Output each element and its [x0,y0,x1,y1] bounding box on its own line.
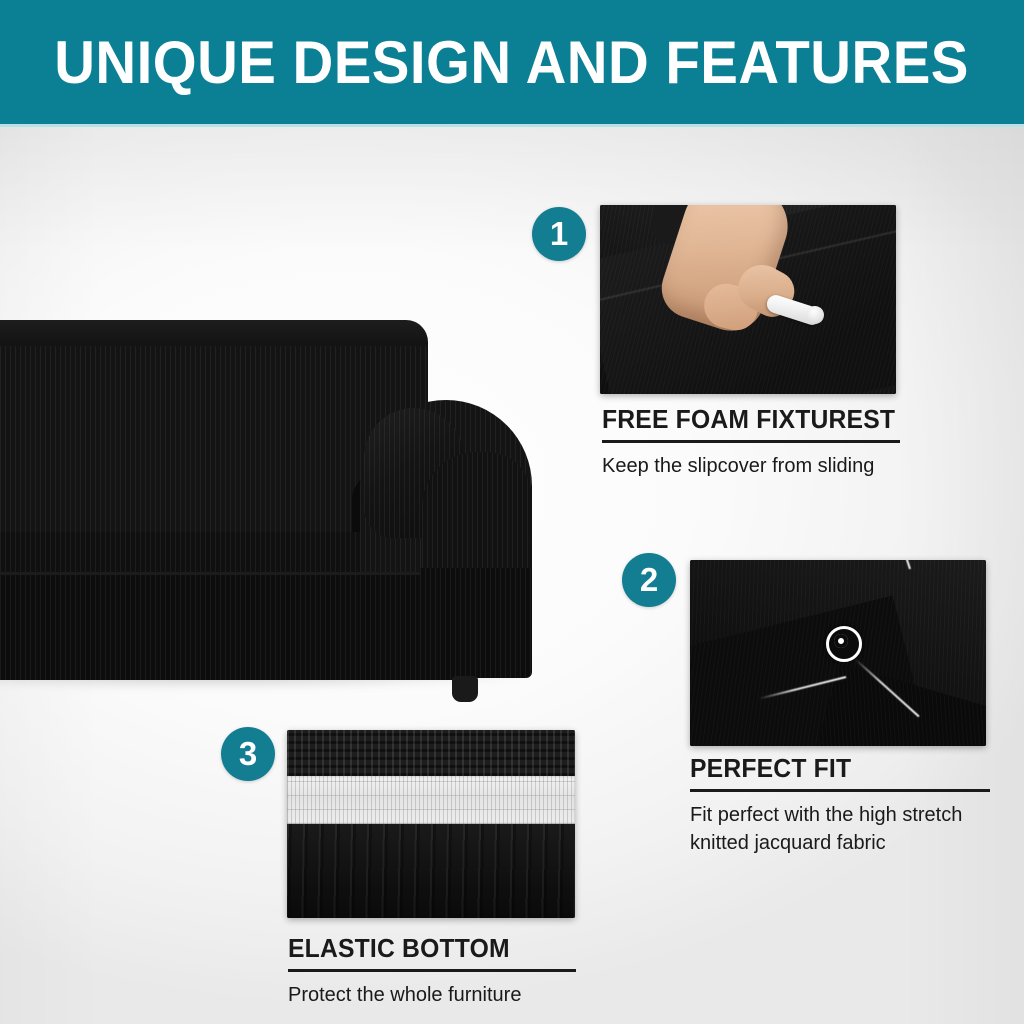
sofa-skirt [0,572,468,680]
feature-title-1: FREE FOAM FIXTUREST [602,404,925,435]
sofa-skirt-rib-texture [0,572,468,680]
sofa-foot [452,676,478,702]
feature-caption-2: PERFECT FIT Fit perfect with the high st… [690,753,1010,858]
panel-3-gathered-hem-bottom [287,824,575,918]
feature-body-1: Keep the slipcover from sliding [602,452,942,480]
feature-title-3-underline [288,969,576,972]
panel-3-white-elastic-band [287,776,575,824]
feature-body-3-line-1: Protect the whole furniture [288,981,588,1009]
feature-title-2: PERFECT FIT [690,753,994,784]
infographic-page: UNIQUE DESIGN AND FEATURES [0,0,1024,1024]
sofa-back-top-edge [0,320,428,346]
panel-3-ribbed-fabric-top [287,730,575,776]
header-banner: UNIQUE DESIGN AND FEATURES [0,0,1024,124]
feature-caption-3: ELASTIC BOTTOM Protect the whole furnitu… [288,933,588,1009]
feature-title-2-underline [690,789,990,792]
feature-body-2: Fit perfect with the high stretch knitte… [690,801,1010,858]
feature-photo-1-free-foam-fixturest [600,205,896,394]
feature-photo-3-elastic-bottom [287,730,575,918]
feature-body-2-line-1: Fit perfect with the high stretch [690,801,1010,829]
panel-2-seam-junction-ring-center [834,634,848,648]
feature-body-1-line-1: Keep the slipcover from sliding [602,452,942,480]
feature-badge-3-number: 3 [239,737,257,770]
feature-title-3: ELASTIC BOTTOM [288,933,573,964]
feature-badge-1-number: 1 [550,217,568,250]
feature-title-1-underline [602,440,900,443]
feature-body-3: Protect the whole furniture [288,981,588,1009]
feature-badge-3: 3 [221,727,275,781]
sofa-product-image [0,300,560,720]
feature-badge-2: 2 [622,553,676,607]
feature-body-2-line-2: knitted jacquard fabric [690,829,1010,857]
sofa-skirt-top-seam [0,572,468,575]
feature-photo-2-perfect-fit [690,560,986,746]
feature-caption-1: FREE FOAM FIXTUREST Keep the slipcover f… [602,404,942,480]
sofa-arm-skirt-rib-texture [420,568,532,678]
feature-badge-1: 1 [532,207,586,261]
page-title: UNIQUE DESIGN AND FEATURES [55,33,970,93]
feature-badge-2-number: 2 [640,563,658,596]
sofa-arm-skirt [420,568,532,678]
